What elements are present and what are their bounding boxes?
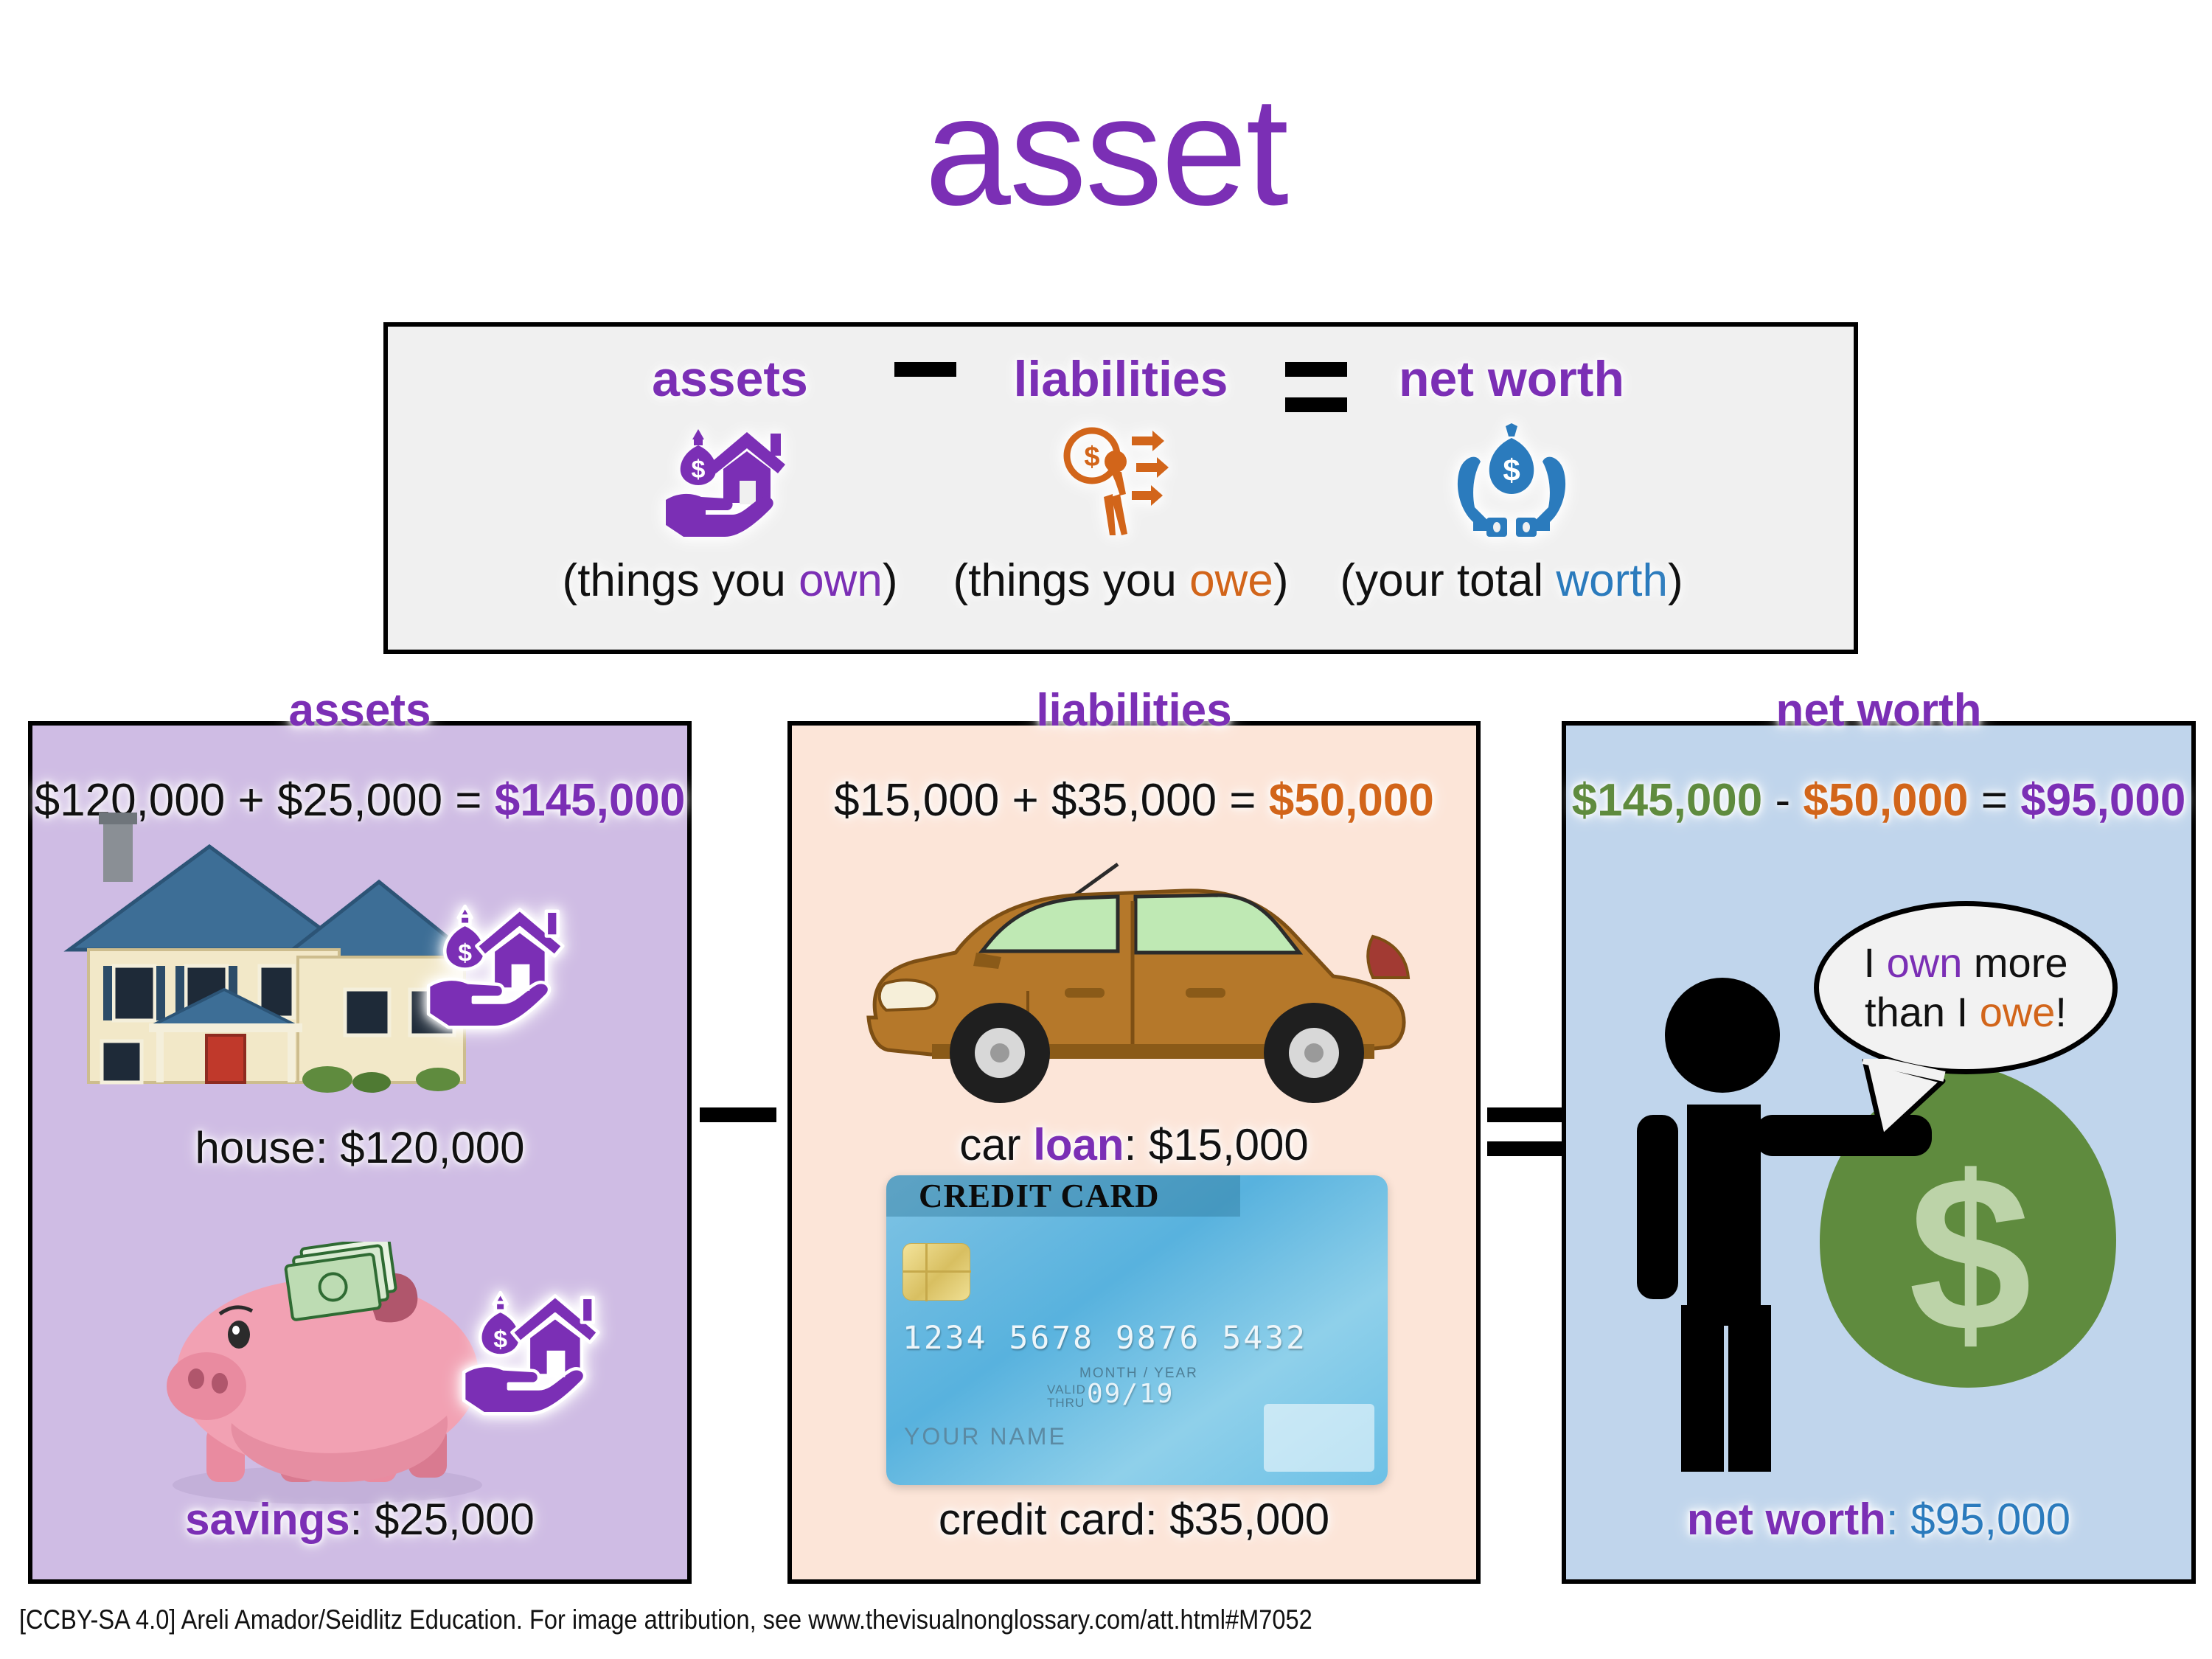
caption-credit-card: credit card: $35,000 bbox=[792, 1494, 1476, 1545]
house-illustration bbox=[62, 805, 475, 1100]
svg-text:$: $ bbox=[692, 456, 706, 484]
minus-sign-icon bbox=[700, 1107, 776, 1122]
panel-net-worth-equation: $145,000 - $50,000 = $95,000 bbox=[1566, 774, 2191, 827]
hand-holding-house-moneybag-icon: $ bbox=[416, 900, 585, 1036]
chip-icon bbox=[902, 1243, 970, 1301]
formula-net-worth-sublabel: (your total worth) bbox=[1340, 554, 1683, 607]
minus-sign-icon bbox=[894, 362, 956, 377]
hands-holding-moneybag-icon: $ bbox=[1445, 421, 1578, 543]
credit-card-illustration: CREDIT CARD 1234 5678 9876 5432 MONTH / … bbox=[886, 1175, 1388, 1492]
poster-root: asset assets $ bbox=[0, 0, 2212, 1659]
speech-bubble-line-1: I own more bbox=[1863, 939, 2067, 987]
formula-assets-label: assets bbox=[652, 350, 808, 408]
svg-text:$: $ bbox=[458, 939, 472, 967]
panels-row: assets $120,000 + $25,000 = $145,000 bbox=[0, 721, 2212, 1584]
attribution-footer: [CCBY-SA 4.0] Areli Amador/Seidlitz Educ… bbox=[19, 1604, 1312, 1635]
panel-liabilities: liabilities $15,000 + $35,000 = $50,000 bbox=[787, 721, 1481, 1584]
speech-bubble: I own more than I owe! bbox=[1814, 901, 2131, 1122]
caption-car-loan: car loan: $15,000 bbox=[792, 1119, 1476, 1170]
caption-house: house: $120,000 bbox=[32, 1122, 687, 1173]
panel-assets-title: assets bbox=[32, 684, 687, 737]
credit-card-expiry: 09/19 bbox=[1087, 1379, 1174, 1409]
formula-net-worth-label: net worth bbox=[1399, 350, 1624, 408]
formula-liabilities-sublabel: (things you owe) bbox=[953, 554, 1289, 607]
car-illustration bbox=[844, 807, 1448, 1116]
panel-assets: assets $120,000 + $25,000 = $145,000 bbox=[28, 721, 692, 1584]
equals-sign-icon bbox=[1487, 1107, 1564, 1156]
equals-sign-icon bbox=[1285, 362, 1347, 412]
page-title: asset bbox=[0, 74, 2212, 229]
operator-equals-between-panels bbox=[1485, 1107, 1566, 1156]
svg-text:$: $ bbox=[1084, 442, 1099, 473]
credit-card-number: 1234 5678 9876 5432 bbox=[902, 1320, 1307, 1357]
caption-net-worth: net worth: $95,000 bbox=[1566, 1494, 2191, 1545]
hand-holding-house-moneybag-icon: $ bbox=[451, 1286, 621, 1422]
formula-box: assets $ bbox=[383, 322, 1858, 654]
panel-net-worth-title: net worth bbox=[1566, 684, 2191, 737]
hologram-patch bbox=[1264, 1404, 1374, 1472]
svg-text:$: $ bbox=[1503, 453, 1520, 487]
panel-net-worth: net worth $145,000 - $50,000 = $95,000 I… bbox=[1562, 721, 2196, 1584]
caption-savings: savings: $25,000 bbox=[32, 1494, 687, 1545]
panel-liabilities-title: liabilities bbox=[792, 684, 1476, 737]
credit-card: CREDIT CARD 1234 5678 9876 5432 MONTH / … bbox=[886, 1175, 1388, 1485]
formula-liabilities-label: liabilities bbox=[1014, 350, 1228, 408]
credit-card-valid-thru-label: VALIDTHRU bbox=[1047, 1383, 1086, 1410]
person-money-outflow-icon: $ bbox=[1058, 421, 1183, 543]
svg-text:$: $ bbox=[1909, 1130, 2032, 1377]
formula-assets-sublabel: (things you own) bbox=[563, 554, 898, 607]
svg-text:$: $ bbox=[493, 1325, 507, 1353]
operator-minus-between-panels bbox=[698, 1107, 779, 1122]
credit-card-brand: CREDIT CARD bbox=[919, 1177, 1159, 1215]
speech-bubble-line-2: than I owe! bbox=[1865, 988, 2067, 1037]
formula-term-liabilities: liabilities $ bbox=[981, 327, 1261, 650]
speech-bubble-tail bbox=[1860, 1059, 1949, 1140]
credit-card-holder-name: YOUR NAME bbox=[904, 1423, 1067, 1450]
formula-term-net-worth: net worth $ bbox=[1371, 327, 1652, 650]
formula-term-assets: assets $ bbox=[590, 327, 870, 650]
hand-holding-house-moneybag-icon: $ bbox=[660, 421, 800, 543]
